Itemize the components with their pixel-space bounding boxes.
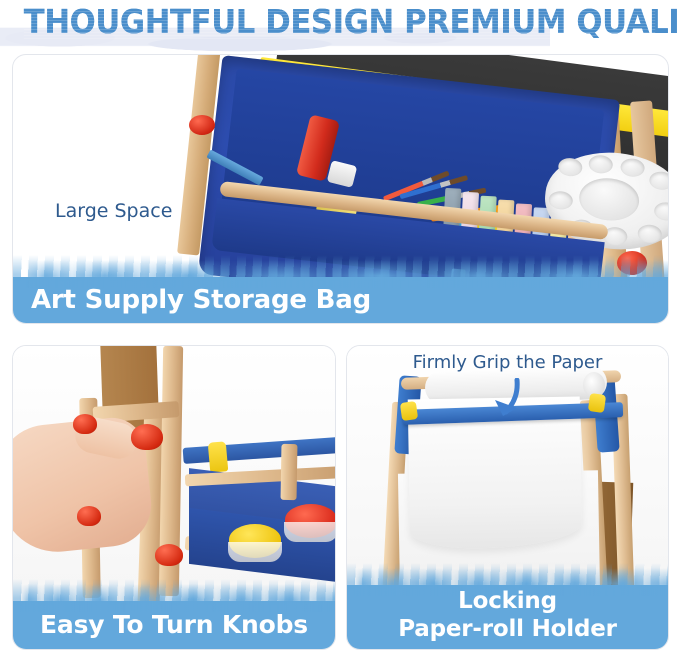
caption-art-supply-storage-bag: Art Supply Storage Bag [13, 277, 668, 323]
caption-easy-to-turn-knobs: Easy To Turn Knobs [13, 601, 335, 649]
palette-well [548, 190, 574, 210]
yellow-cup-base [228, 542, 282, 562]
panel-art-supply-storage-bag: Large Space Art Supply Storage Bag [12, 54, 669, 324]
caption-locking-paper-roll-holder: Locking Paper-roll Holder [347, 585, 668, 649]
page-title: THOUGHTFUL DESIGN PREMIUM QUALITY [24, 0, 655, 45]
red-knob-main [131, 424, 163, 450]
palette-well-center [577, 175, 641, 223]
caption-text-line2: Paper-roll Holder [347, 615, 668, 643]
header-banner: THOUGHTFUL DESIGN PREMIUM QUALITY [0, 0, 679, 52]
red-knob-upper-left [73, 414, 97, 434]
yellow-clip-left [400, 401, 418, 421]
palette-well [557, 157, 583, 177]
yellow-clip-right [588, 393, 606, 413]
palette-well [653, 201, 668, 221]
caption-text: Easy To Turn Knobs [13, 601, 335, 649]
caption-text-line1: Locking [347, 587, 668, 615]
panel-locking-paper-roll-holder: Firmly Grip the Paper Locking Paper-roll… [346, 345, 669, 650]
palette-well [648, 171, 668, 191]
red-knob-lower-center [155, 544, 183, 566]
easel-post-right [281, 444, 298, 500]
red-knob [189, 115, 215, 135]
down-left-arrow-icon [487, 378, 527, 429]
palette-well [620, 157, 646, 177]
overlay-label-firmly-grip-the-paper: Firmly Grip the Paper [347, 352, 668, 373]
overlay-label-large-space: Large Space [55, 200, 172, 222]
panel-easy-to-turn-knobs: Easy To Turn Knobs [12, 345, 336, 650]
red-knob-lower-left [77, 506, 101, 526]
palette-well [588, 154, 614, 174]
palette-well [637, 224, 663, 244]
caption-text: Art Supply Storage Bag [13, 277, 668, 323]
yellow-clip [208, 441, 229, 472]
red-cup-base [284, 522, 335, 542]
